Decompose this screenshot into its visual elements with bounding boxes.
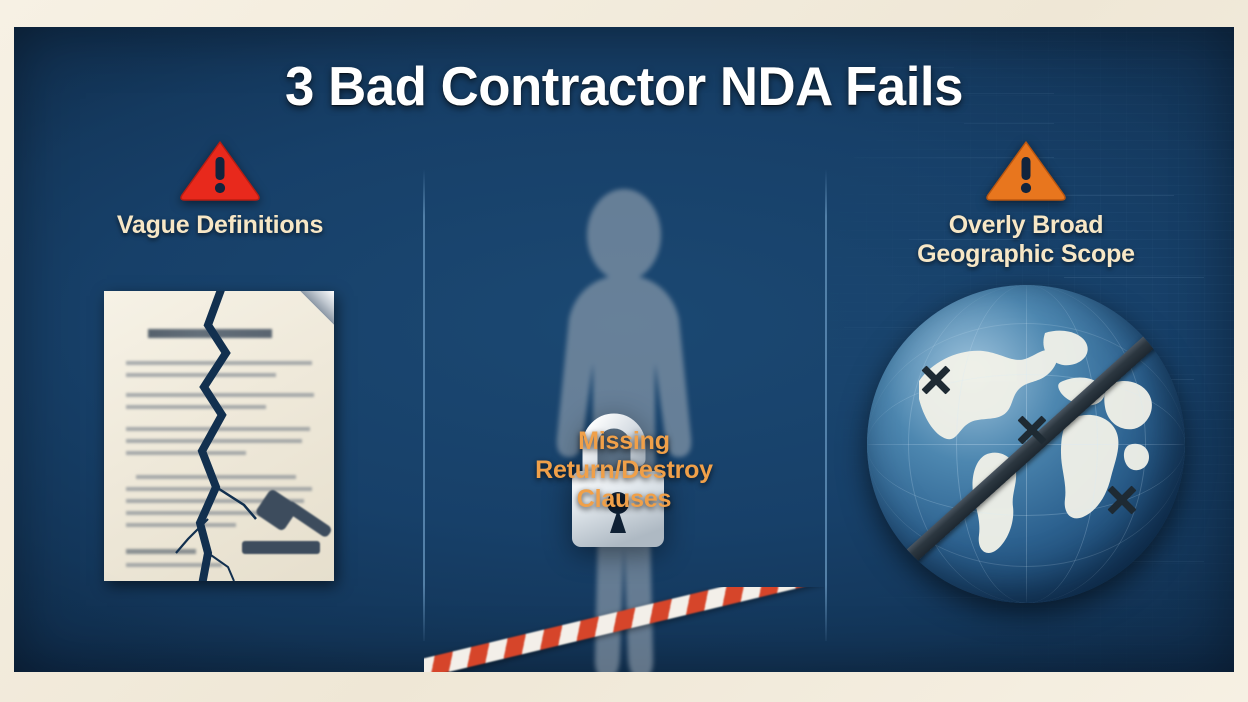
torn-document-illustration [20, 275, 420, 595]
column-missing-return-destroy: Missing Return/Destroy Clauses [424, 137, 824, 657]
page-title: 3 Bad Contractor NDA Fails [38, 54, 1209, 118]
column-vague-definitions: Vague Definitions [20, 137, 420, 657]
warning-triangle-icon [983, 137, 1069, 203]
hazard-tape [424, 587, 824, 672]
globe-x-mark [919, 363, 953, 397]
globe-illustration [826, 285, 1226, 615]
infographic-poster: 3 Bad Contractor NDA Fails Vague Definit… [0, 0, 1248, 702]
hazard-tape-strip [424, 587, 824, 672]
gavel-icon [230, 483, 334, 575]
column-heading-left: Vague Definitions [20, 211, 420, 240]
column-heading-center: Missing Return/Destroy Clauses [424, 427, 824, 514]
poster-canvas: 3 Bad Contractor NDA Fails Vague Definit… [14, 27, 1234, 672]
contract-document [104, 291, 334, 581]
warning-triangle-wrap-left [20, 137, 420, 203]
globe-x-mark [1015, 413, 1049, 447]
column-heading-right: Overly Broad Geographic Scope [826, 211, 1226, 269]
globe-icon [867, 285, 1185, 603]
warning-triangle-wrap-right [826, 137, 1226, 203]
silhouette-illustration [424, 157, 824, 672]
globe-x-mark [1105, 483, 1139, 517]
column-overly-broad-geographic-scope: Overly Broad Geographic Scope [826, 137, 1226, 657]
warning-triangle-icon [177, 137, 263, 203]
